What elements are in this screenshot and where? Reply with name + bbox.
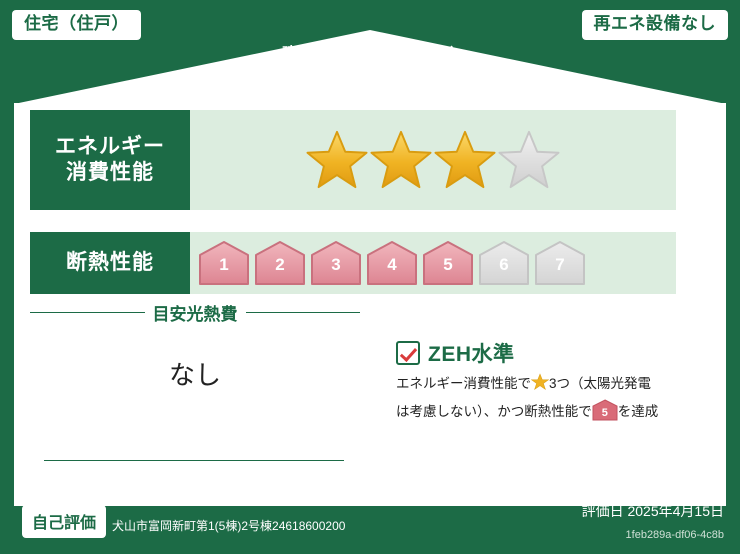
page-title: 省エネ性能ラベル bbox=[0, 66, 740, 105]
divider-left bbox=[30, 312, 145, 313]
star-icon-filled bbox=[370, 129, 432, 191]
row-energy-value bbox=[190, 110, 676, 210]
zeh-title: ZEH水準 bbox=[428, 338, 515, 368]
insulation-level-inactive: 6 bbox=[478, 240, 530, 286]
insulation-level-number: 1 bbox=[198, 255, 250, 275]
star-rating bbox=[306, 129, 560, 191]
star-icon-filled bbox=[306, 129, 368, 191]
check-icon bbox=[396, 341, 420, 365]
insulation-level-number: 5 bbox=[422, 255, 474, 275]
evaluation-date: 評価日 2025年4月15日 bbox=[582, 501, 724, 521]
row-insulation-label-text: 断熱性能 bbox=[66, 250, 154, 276]
zeh-desc-part2: 3つ（太陽光発電 bbox=[549, 376, 651, 391]
zeh-desc-part4: を達成 bbox=[618, 404, 659, 419]
star-icon-empty bbox=[498, 129, 560, 191]
star-icon-filled bbox=[434, 129, 496, 191]
insulation-level-number: 6 bbox=[478, 255, 530, 275]
utility-cost-title: 目安光熱費 bbox=[153, 300, 238, 325]
insulation-level-inactive: 7 bbox=[534, 240, 586, 286]
utility-cost-underline bbox=[44, 460, 344, 461]
row-energy-label-line1: エネルギー bbox=[55, 134, 165, 160]
row-energy-performance: エネルギー 消費性能 bbox=[30, 110, 710, 210]
row-insulation-value: 1234567 bbox=[190, 232, 676, 294]
insulation-level-number: 2 bbox=[254, 255, 306, 275]
utility-cost-value: なし bbox=[30, 355, 360, 392]
house-icon-inline-number: 5 bbox=[592, 404, 618, 423]
utility-cost-header: 目安光熱費 bbox=[30, 300, 360, 325]
insulation-level-active: 3 bbox=[310, 240, 362, 286]
header-subtitle: 建築物省エネ法に基づく bbox=[0, 42, 740, 63]
insulation-level-number: 3 bbox=[310, 255, 362, 275]
insulation-level-active: 4 bbox=[366, 240, 418, 286]
property-address: 犬山市富岡新町第1(5棟)2号棟24618600200 bbox=[112, 517, 345, 534]
evaluation-type-badge: 自己評価 bbox=[22, 505, 106, 538]
row-insulation-label: 断熱性能 bbox=[30, 232, 190, 294]
zeh-description: エネルギー消費性能で3つ（太陽光発電 は考慮しない）、かつ断熱性能で5を達成 bbox=[396, 372, 712, 423]
house-icon-inline: 5 bbox=[592, 399, 618, 421]
zeh-desc-part1: エネルギー消費性能で bbox=[396, 376, 531, 391]
insulation-level-number: 7 bbox=[534, 255, 586, 275]
row-insulation-performance: 断熱性能 1234567 bbox=[30, 232, 710, 294]
zeh-desc-part3: は考慮しない）、かつ断熱性能で bbox=[396, 404, 592, 419]
label-id: 1feb289a-df06-4c8b bbox=[626, 529, 724, 541]
insulation-level-active: 1 bbox=[198, 240, 250, 286]
insulation-level-scale: 1234567 bbox=[198, 240, 586, 286]
row-energy-label: エネルギー 消費性能 bbox=[30, 110, 190, 210]
insulation-level-active: 5 bbox=[422, 240, 474, 286]
divider-right bbox=[246, 312, 361, 313]
insulation-level-number: 4 bbox=[366, 255, 418, 275]
insulation-level-active: 2 bbox=[254, 240, 306, 286]
row-energy-label-line2: 消費性能 bbox=[66, 160, 154, 186]
star-icon-inline bbox=[531, 373, 549, 399]
energy-performance-label: 住宅（住戸） 再エネ設備なし 建築物省エネ法に基づく 省エネ性能ラベル エネルギ… bbox=[0, 0, 740, 554]
zeh-header: ZEH水準 bbox=[396, 338, 515, 368]
